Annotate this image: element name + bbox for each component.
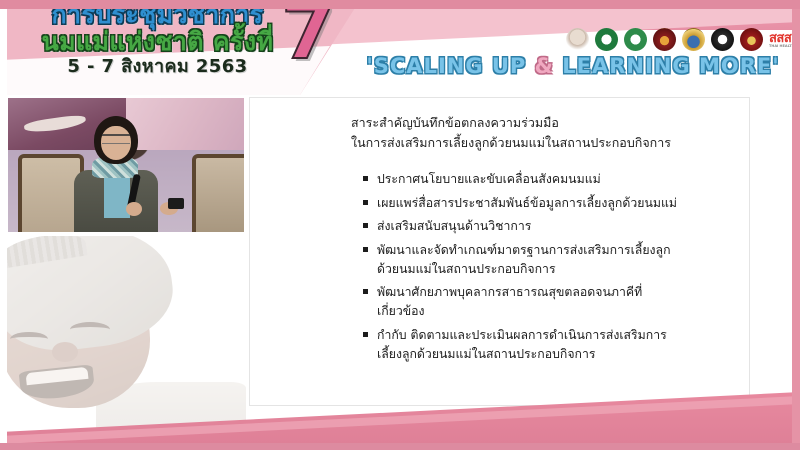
conference-slogan: 'SCALING UP & LEARNING MORE'	[358, 54, 788, 78]
partner-logo-strip: สสส THAI HEALTH	[566, 26, 795, 52]
list-item: ประกาศนโยบายและขับเคลื่อนสังคมนมแม่	[363, 170, 681, 189]
child-nose	[52, 342, 78, 362]
slogan-part2: LEARNING MORE'	[554, 54, 780, 78]
department-health-logo	[624, 28, 647, 51]
speaker-photo-backdrop-right	[126, 98, 244, 150]
list-item: ส่งเสริมสนับสนุนด้านวิชาการ	[363, 217, 681, 236]
royal-college-logo	[740, 28, 763, 51]
speaker-chair-right	[192, 154, 244, 232]
child-photo-watermark	[0, 236, 252, 436]
child-eye-left	[10, 332, 48, 346]
speaker-glasses	[102, 134, 130, 144]
list-item: เผยแพร่สื่อสารประชาสัมพันธ์ข้อมูลการเลี้…	[363, 194, 681, 213]
slogan-ampersand: &	[535, 54, 554, 78]
intro-line-2: ในการส่งเสริมการเลี้ยงลูกด้วยนมแม่ในสถาน…	[351, 133, 731, 153]
presentation-clicker	[168, 198, 184, 209]
frame-edge-left	[0, 0, 7, 450]
breastfeeding-center-logo	[711, 28, 734, 51]
slogan-part1: 'SCALING UP	[366, 54, 534, 78]
intro-line-1: สาระสำคัญบันทึกข้อตกลงความร่วมมือ	[351, 113, 731, 133]
conference-title-block: การประชุมวิชาการ นมแม่แห่งชาติ ครั้งที่ …	[20, 2, 295, 76]
royal-emblem-logo	[566, 28, 589, 51]
conference-date: 5 - 7 สิงหาคม 2563	[20, 58, 295, 76]
garuda-emblem-logo	[682, 28, 705, 51]
frame-edge-top	[0, 0, 800, 9]
frame-edge-right	[792, 0, 800, 450]
conference-title-line2: นมแม่แห่งชาติ ครั้งที่	[20, 29, 295, 55]
ministry-health-logo	[595, 28, 618, 51]
presentation-slide: การประชุมวิชาการ นมแม่แห่งชาติ ครั้งที่ …	[0, 0, 800, 450]
frame-edge-bottom	[0, 443, 800, 450]
intro-paragraph: สาระสำคัญบันทึกข้อตกลงความร่วมมือ ในการส…	[351, 113, 731, 153]
list-item: กำกับ ติดตามและประเมินผลการดำเนินการส่งเ…	[363, 326, 681, 363]
list-item: พัฒนาศักยภาพบุคลากรสาธารณสุขตลอดจนภาคีที…	[363, 283, 681, 320]
thaihealth-logo-subtext: THAI HEALTH	[769, 45, 795, 49]
speaker-hand-left	[126, 202, 142, 216]
child-eye-right	[70, 322, 110, 337]
thaihealth-sss-logo: สสส THAI HEALTH	[769, 29, 795, 49]
edition-number: 7	[281, 0, 335, 71]
thai-crown-logo	[653, 28, 676, 51]
content-card: สาระสำคัญบันทึกข้อตกลงความร่วมมือ ในการส…	[249, 97, 750, 406]
list-item: พัฒนาและจัดทำเกณฑ์มาตรฐานการส่งเสริมการเ…	[363, 241, 681, 278]
bullet-list: ประกาศนโยบายและขับเคลื่อนสังคมนมแม่ เผยแ…	[363, 170, 681, 368]
speaker-photo	[8, 98, 244, 232]
